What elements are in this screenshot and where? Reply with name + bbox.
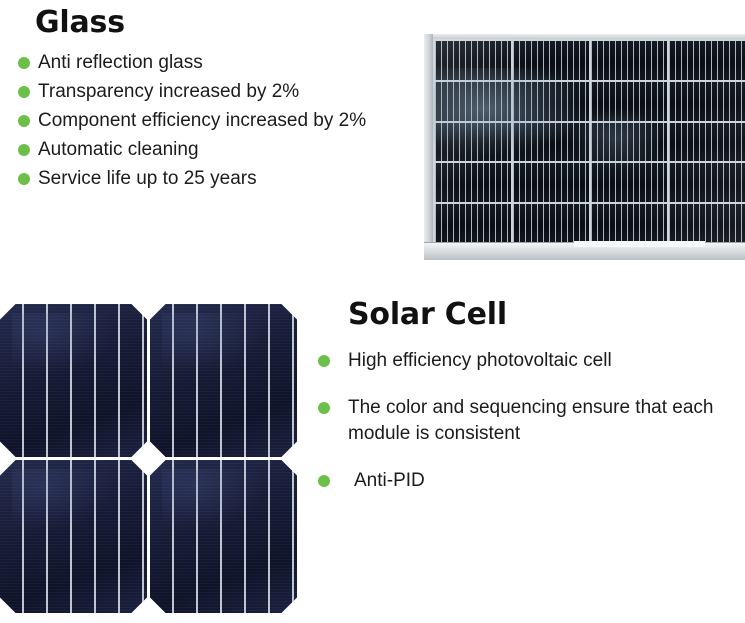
glass-feature-text: Component efficiency increased by 2%: [38, 108, 366, 134]
list-item: Transparency increased by 2%: [18, 79, 418, 105]
panel-frame-top-rail: [424, 34, 745, 39]
cell-chamfer-corner: [150, 304, 166, 320]
panel-cell: [591, 82, 667, 121]
list-item: Component efficiency increased by 2%: [18, 108, 418, 134]
cell-chamfer-corner: [150, 597, 166, 613]
cell-sheen: [12, 469, 115, 530]
mono-cell: [150, 460, 297, 613]
mono-cell: [0, 460, 147, 613]
list-item: Anti reflection glass: [18, 50, 418, 76]
cell-chamfer-corner: [131, 460, 147, 476]
solar-cell-feature-text: High efficiency photovoltaic cell: [348, 348, 612, 374]
cell-chamfer-corner: [281, 460, 297, 476]
panel-cell: [669, 41, 745, 80]
panel-cell: [435, 204, 511, 243]
solar-panel-photo: Monocrystalline solar panel with silver …: [424, 34, 745, 260]
panel-frame-left-rail: [424, 34, 433, 260]
solar-cell-feature-text: Anti-PID: [348, 468, 425, 494]
panel-cell: [591, 41, 667, 80]
panel-cell: [513, 123, 589, 162]
list-item: Automatic cleaning: [18, 137, 418, 163]
panel-laminate: [433, 39, 745, 243]
panel-cell: [435, 41, 511, 80]
glass-feature-text: Automatic cleaning: [38, 137, 199, 163]
cell-chamfer-corner: [150, 441, 166, 457]
solar-cell-section: Solar Cell High efficiency photovoltaic …: [318, 298, 743, 515]
panel-cell: [513, 82, 589, 121]
panel-cell: [591, 163, 667, 202]
list-item: The color and sequencing ensure that eac…: [318, 395, 743, 447]
glass-heading: Glass: [35, 6, 418, 40]
solar-cell-heading: Solar Cell: [348, 298, 743, 332]
list-item: High efficiency photovoltaic cell: [318, 348, 743, 374]
cell-chamfer-corner: [131, 597, 147, 613]
glass-feature-text: Service life up to 25 years: [38, 166, 257, 192]
solar-cell-feature-text: The color and sequencing ensure that eac…: [348, 395, 733, 447]
bullet-dot-icon: [18, 57, 30, 69]
glass-section: Glass Anti reflection glass Transparency…: [18, 6, 418, 195]
cell-chamfer-corner: [281, 441, 297, 457]
bullet-dot-icon: [18, 115, 30, 127]
glass-feature-text: Transparency increased by 2%: [38, 79, 299, 105]
mono-cell: [150, 304, 297, 457]
cell-chamfer-corner: [150, 460, 166, 476]
panel-cell: [435, 82, 511, 121]
cell-chamfer-corner: [281, 304, 297, 320]
panel-cell: [591, 123, 667, 162]
panel-cell: [513, 163, 589, 202]
solar-cell-closeup-photo: Close-up of four dark navy monocrystalli…: [0, 304, 297, 613]
cell-chamfer-corner: [281, 597, 297, 613]
panel-cell: [435, 123, 511, 162]
panel-cell: [513, 41, 589, 80]
bullet-dot-icon: [318, 402, 330, 414]
list-item: Anti-PID: [318, 468, 743, 494]
panel-cell: [669, 204, 745, 243]
mono-cell: [0, 304, 147, 457]
bullet-dot-icon: [18, 86, 30, 98]
cell-closeup-grid: [0, 304, 297, 613]
cell-chamfer-corner: [0, 460, 16, 476]
panel-cell: [435, 163, 511, 202]
bullet-dot-icon: [318, 475, 330, 487]
panel-cell: [669, 82, 745, 121]
cell-chamfer-corner: [0, 441, 16, 457]
cell-sheen: [162, 313, 265, 374]
bullet-dot-icon: [18, 173, 30, 185]
bullet-dot-icon: [318, 355, 330, 367]
bullet-dot-icon: [18, 144, 30, 156]
cell-sheen: [162, 469, 265, 530]
panel-cell: [669, 163, 745, 202]
cell-chamfer-corner: [0, 304, 16, 320]
list-item: Service life up to 25 years: [18, 166, 418, 192]
panel-cell: [591, 204, 667, 243]
cell-sheen: [12, 313, 115, 374]
glass-feature-list: Anti reflection glass Transparency incre…: [18, 50, 418, 192]
cell-chamfer-corner: [131, 304, 147, 320]
glass-feature-text: Anti reflection glass: [38, 50, 203, 76]
solar-cell-feature-list: High efficiency photovoltaic cell The co…: [318, 348, 743, 494]
panel-cell: [513, 204, 589, 243]
cell-chamfer-corner: [0, 597, 16, 613]
panel-cell-grid: [433, 39, 745, 243]
panel-frame-highlight-strip: [574, 241, 705, 247]
panel-cell: [669, 123, 745, 162]
cell-chamfer-corner: [131, 441, 147, 457]
